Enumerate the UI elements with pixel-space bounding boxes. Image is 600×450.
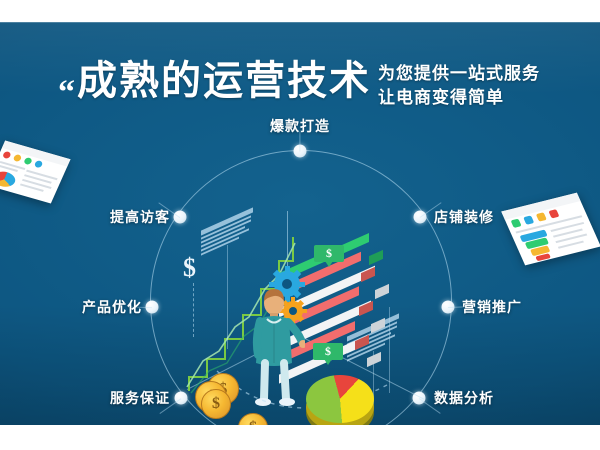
floating-dashboard-right	[501, 193, 600, 266]
price-tag-top: $	[314, 245, 344, 262]
coin-bottom: $	[201, 389, 231, 419]
bar-row-1-side	[369, 250, 383, 265]
bar-row-5-side	[371, 318, 385, 333]
promo-banner: “ 成熟的运营技术 为您提供一站式服务 让电商变得简单 爆款打造 提高访客 产品…	[0, 0, 600, 450]
feature-label-right-2[interactable]: 营销推广	[462, 297, 522, 317]
floating-dashboard-left	[0, 140, 71, 203]
subtitle-group: 为您提供一站式服务 让电商变得简单	[378, 62, 540, 110]
feature-label-left-1[interactable]: 提高访客	[110, 207, 170, 227]
headline-group: “ 成熟的运营技术	[58, 58, 371, 104]
doc-stem-top	[227, 245, 228, 349]
page-title: 成熟的运营技术	[77, 58, 371, 104]
top-divider	[0, 22, 600, 23]
price-tag-pie: $	[313, 343, 343, 360]
pie-chart	[306, 375, 374, 423]
feature-label-right-1[interactable]: 店铺装修	[434, 207, 494, 227]
central-illustration: $	[175, 217, 425, 425]
bar-row-3-side	[375, 284, 389, 299]
feature-label-left-3[interactable]: 服务保证	[110, 388, 170, 408]
bar-row-6-side	[355, 335, 369, 350]
feature-label-top[interactable]: 爆款打造	[270, 116, 330, 136]
quote-mark-icon: “	[58, 76, 75, 110]
bar-row-2-side	[361, 267, 375, 282]
subtitle-line-1: 为您提供一站式服务	[378, 62, 540, 86]
subtitle-line-2: 让电商变得简单	[378, 86, 540, 110]
bar-row-4-side	[359, 301, 373, 316]
banner-stage: “ 成熟的运营技术 为您提供一站式服务 让电商变得简单 爆款打造 提高访客 产品…	[0, 22, 600, 425]
feature-label-left-2[interactable]: 产品优化	[82, 297, 142, 317]
feature-label-right-3[interactable]: 数据分析	[434, 388, 494, 408]
